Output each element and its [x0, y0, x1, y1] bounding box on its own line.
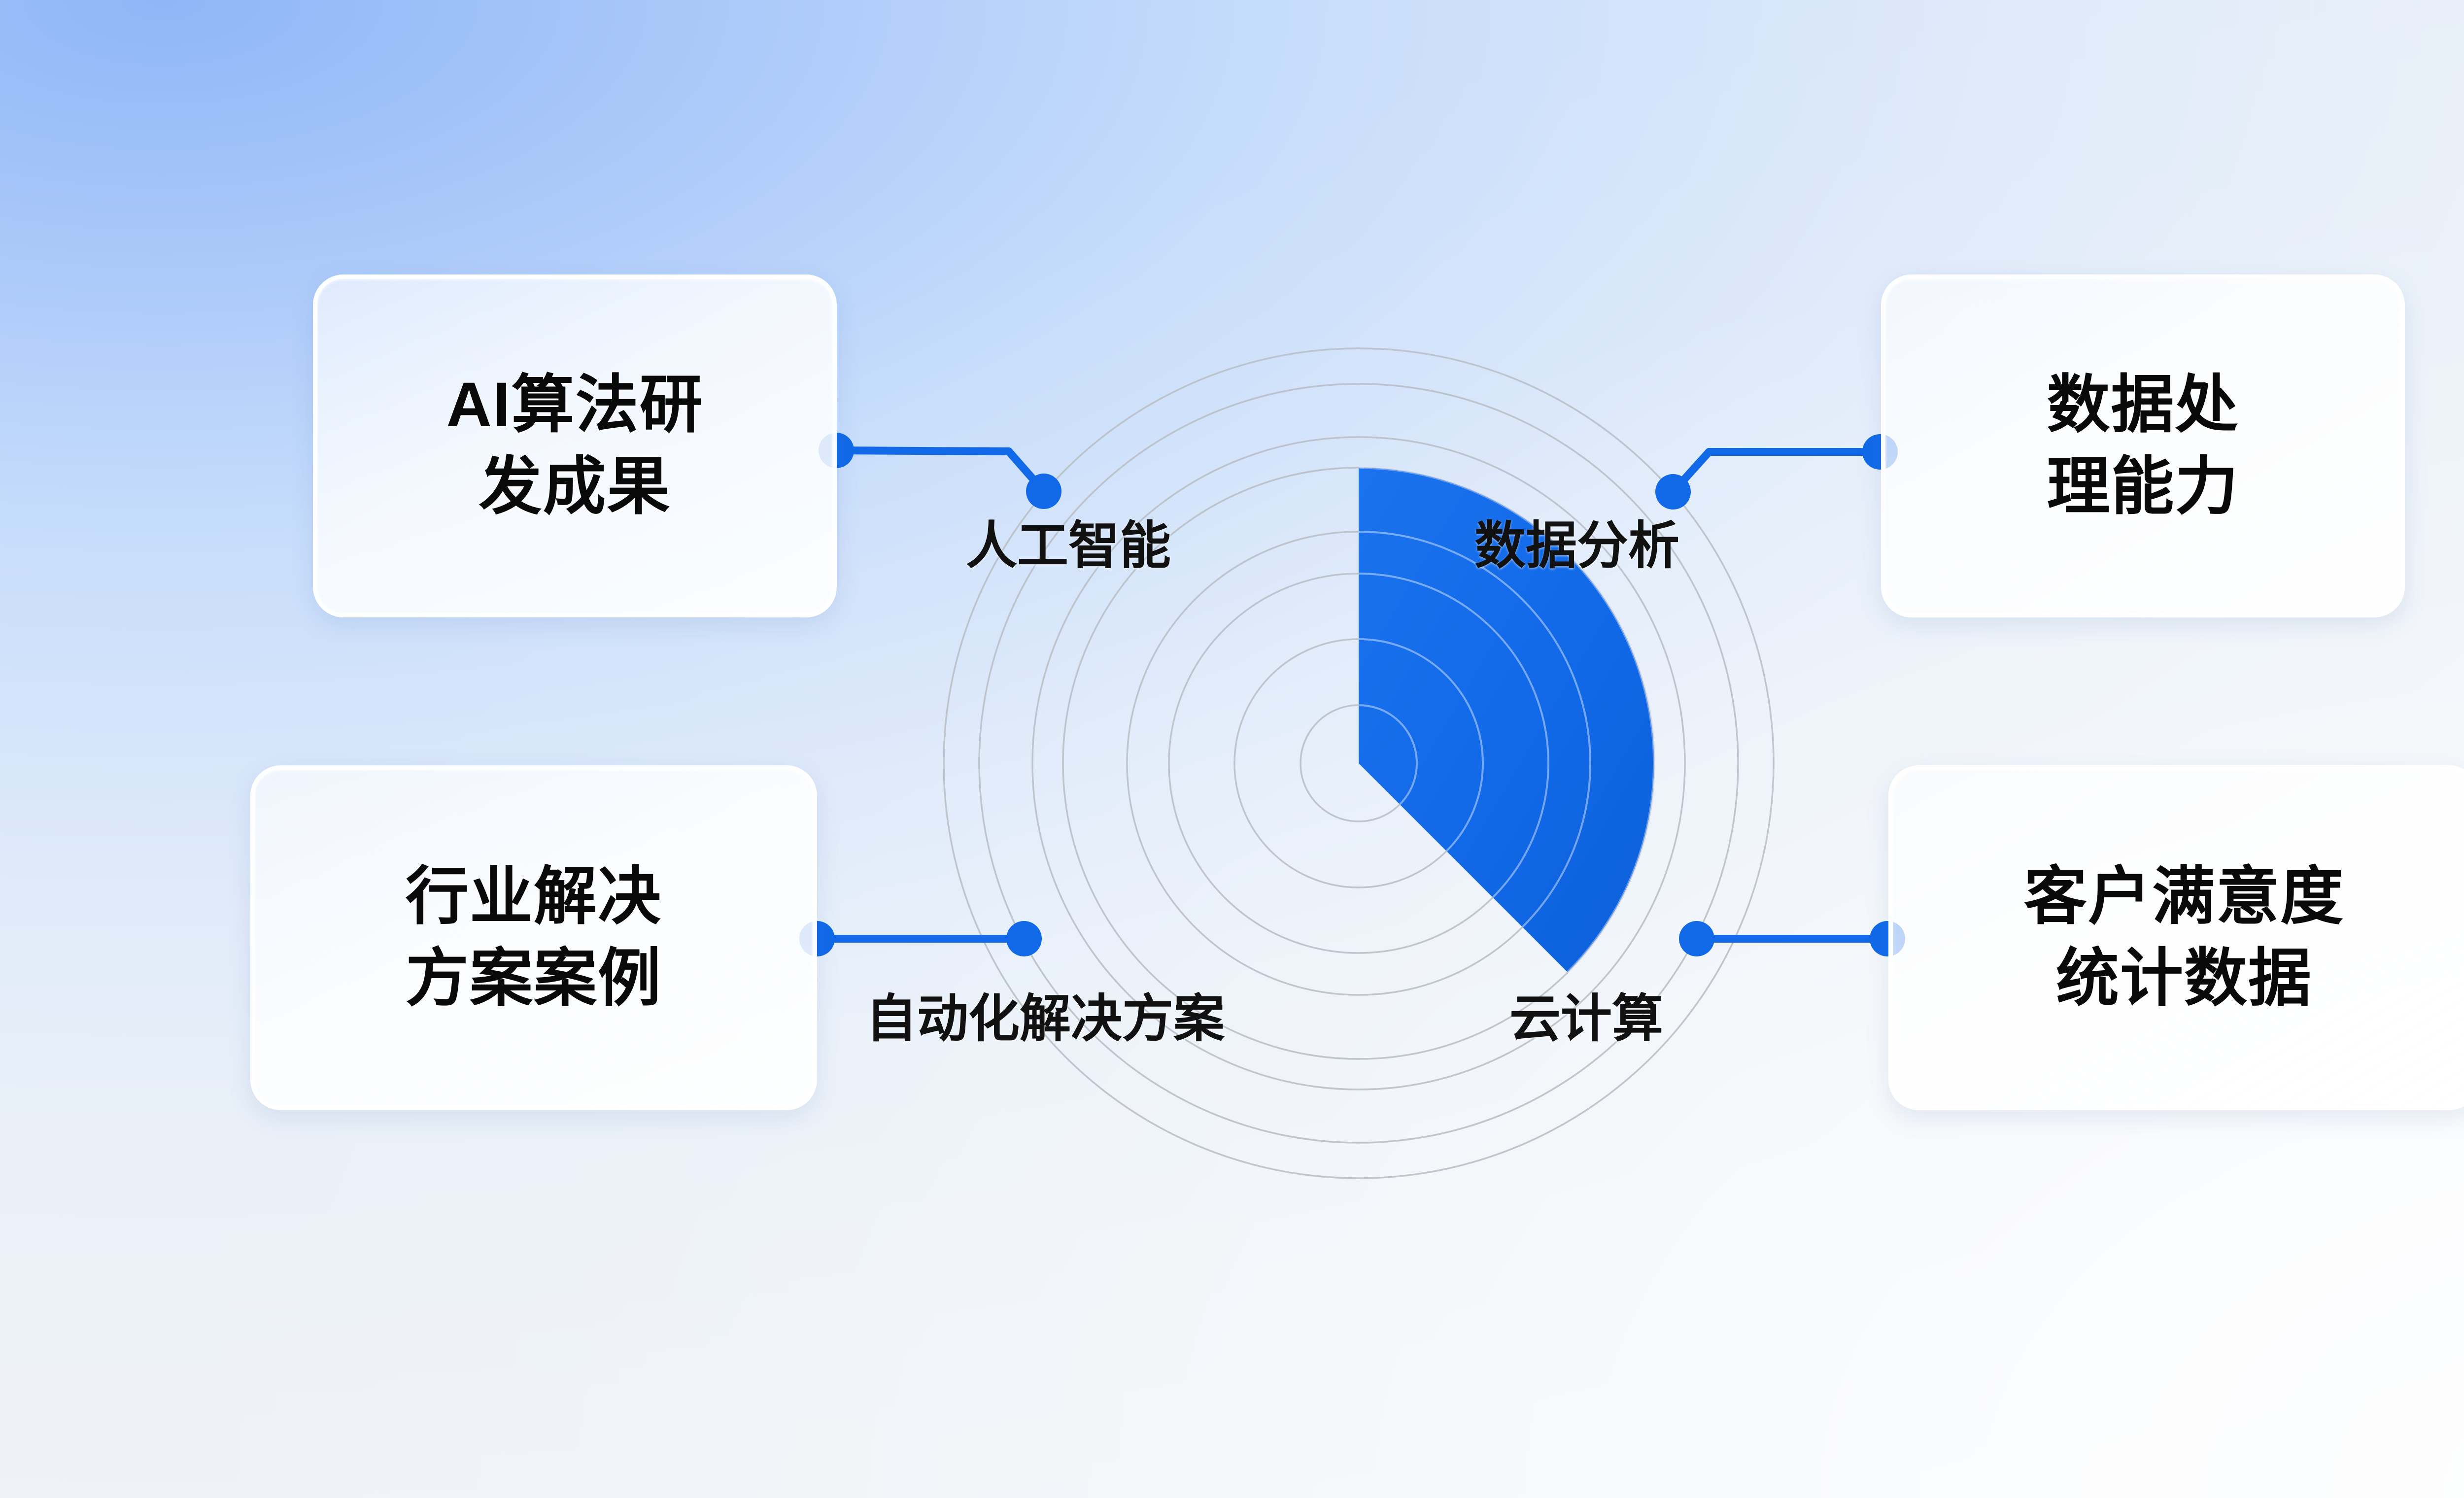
- card-customer-satisfaction[interactable]: 客户满意度 统计数据: [1888, 765, 2464, 1110]
- connector-layer: [0, 0, 2464, 1498]
- connector-line-top-left: [836, 450, 1044, 491]
- connector-dot-bottom-right-inner[interactable]: [1679, 921, 1714, 956]
- connector-dot-bottom-left-inner[interactable]: [1006, 921, 1042, 956]
- card-ai-algorithm-label: AI算法研 发成果: [446, 364, 703, 528]
- card-data-processing[interactable]: 数据处 理能力: [1881, 274, 2405, 617]
- card-data-processing-label: 数据处 理能力: [2047, 364, 2239, 528]
- card-industry-solution[interactable]: 行业解决 方案案例: [250, 765, 817, 1110]
- card-customer-satisfaction-label: 客户满意度 统计数据: [2024, 856, 2344, 1020]
- connector-line-top-right: [1673, 452, 1880, 492]
- card-industry-solution-label: 行业解决 方案案例: [406, 856, 662, 1020]
- infographic-canvas: 人工智能 数据分析 自动化解决方案 云计算 AI算法研 发成果 数据处 理能力 …: [0, 0, 2464, 1498]
- card-ai-algorithm[interactable]: AI算法研 发成果: [313, 274, 837, 617]
- connector-dot-top-right-inner[interactable]: [1655, 474, 1691, 510]
- connector-dot-top-left-inner[interactable]: [1026, 474, 1061, 509]
